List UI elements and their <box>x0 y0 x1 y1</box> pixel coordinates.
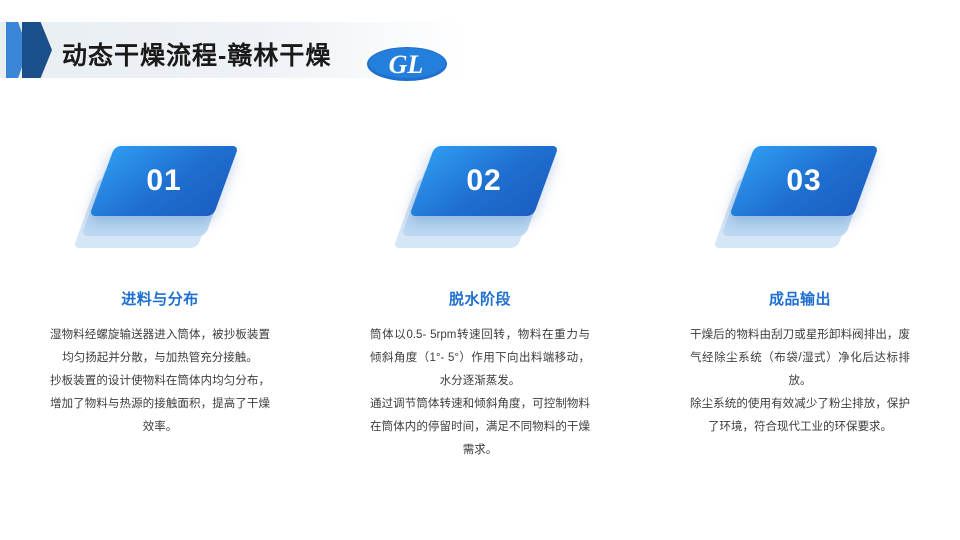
step-body: 筒体以0.5- 5rpm转速回转，物料在重力与倾斜角度（1°- 5°）作用下向出… <box>370 324 590 462</box>
badge-front-plate: 02 <box>409 146 558 216</box>
step-paragraph: 除尘系统的使用有效减少了粉尘排放，保护了环境，符合现代工业的环保要求。 <box>690 393 910 439</box>
step-title: 成品输出 <box>640 288 960 309</box>
step-column-3: 03 成品输出 干燥后的物料由刮刀或星形卸料阀排出，废气经除尘系统（布袋/湿式）… <box>640 120 960 500</box>
step-column-1: 01 进料与分布 湿物料经螺旋输送器进入筒体，被抄板装置均匀扬起并分散，与加热管… <box>0 120 320 500</box>
page-header: 动态干燥流程-赣林干燥 GL <box>0 22 470 78</box>
badge-front-plate: 01 <box>89 146 238 216</box>
steps-container: 01 进料与分布 湿物料经螺旋输送器进入筒体，被抄板装置均匀扬起并分散，与加热管… <box>0 120 960 500</box>
step-paragraph: 湿物料经螺旋输送器进入筒体，被抄板装置均匀扬起并分散，与加热管充分接触。 <box>50 324 270 370</box>
step-paragraph: 通过调节筒体转速和倾斜角度，可控制物料在筒体内的停留时间，满足不同物料的干燥需求… <box>370 393 590 462</box>
step-title: 脱水阶段 <box>320 288 640 309</box>
step-badge-2: 02 <box>400 130 560 270</box>
step-number: 02 <box>422 146 546 216</box>
step-body: 干燥后的物料由刮刀或星形卸料阀排出，废气经除尘系统（布袋/湿式）净化后达标排放。… <box>690 324 910 439</box>
step-badge-1: 01 <box>80 130 240 270</box>
step-number: 01 <box>102 146 226 216</box>
gl-logo-icon: GL <box>366 46 448 82</box>
step-body: 湿物料经螺旋输送器进入筒体，被抄板装置均匀扬起并分散，与加热管充分接触。 抄板装… <box>50 324 270 439</box>
page-title: 动态干燥流程-赣林干燥 <box>62 36 331 72</box>
step-paragraph: 筒体以0.5- 5rpm转速回转，物料在重力与倾斜角度（1°- 5°）作用下向出… <box>370 324 590 393</box>
step-column-2: 02 脱水阶段 筒体以0.5- 5rpm转速回转，物料在重力与倾斜角度（1°- … <box>320 120 640 500</box>
svg-text:GL: GL <box>389 50 424 79</box>
badge-front-plate: 03 <box>729 146 878 216</box>
step-badge-3: 03 <box>720 130 880 270</box>
step-number: 03 <box>742 146 866 216</box>
step-title: 进料与分布 <box>0 288 320 309</box>
step-paragraph: 抄板装置的设计使物料在筒体内均匀分布，增加了物料与热源的接触面积，提高了干燥效率… <box>50 370 270 439</box>
step-paragraph: 干燥后的物料由刮刀或星形卸料阀排出，废气经除尘系统（布袋/湿式）净化后达标排放。 <box>690 324 910 393</box>
